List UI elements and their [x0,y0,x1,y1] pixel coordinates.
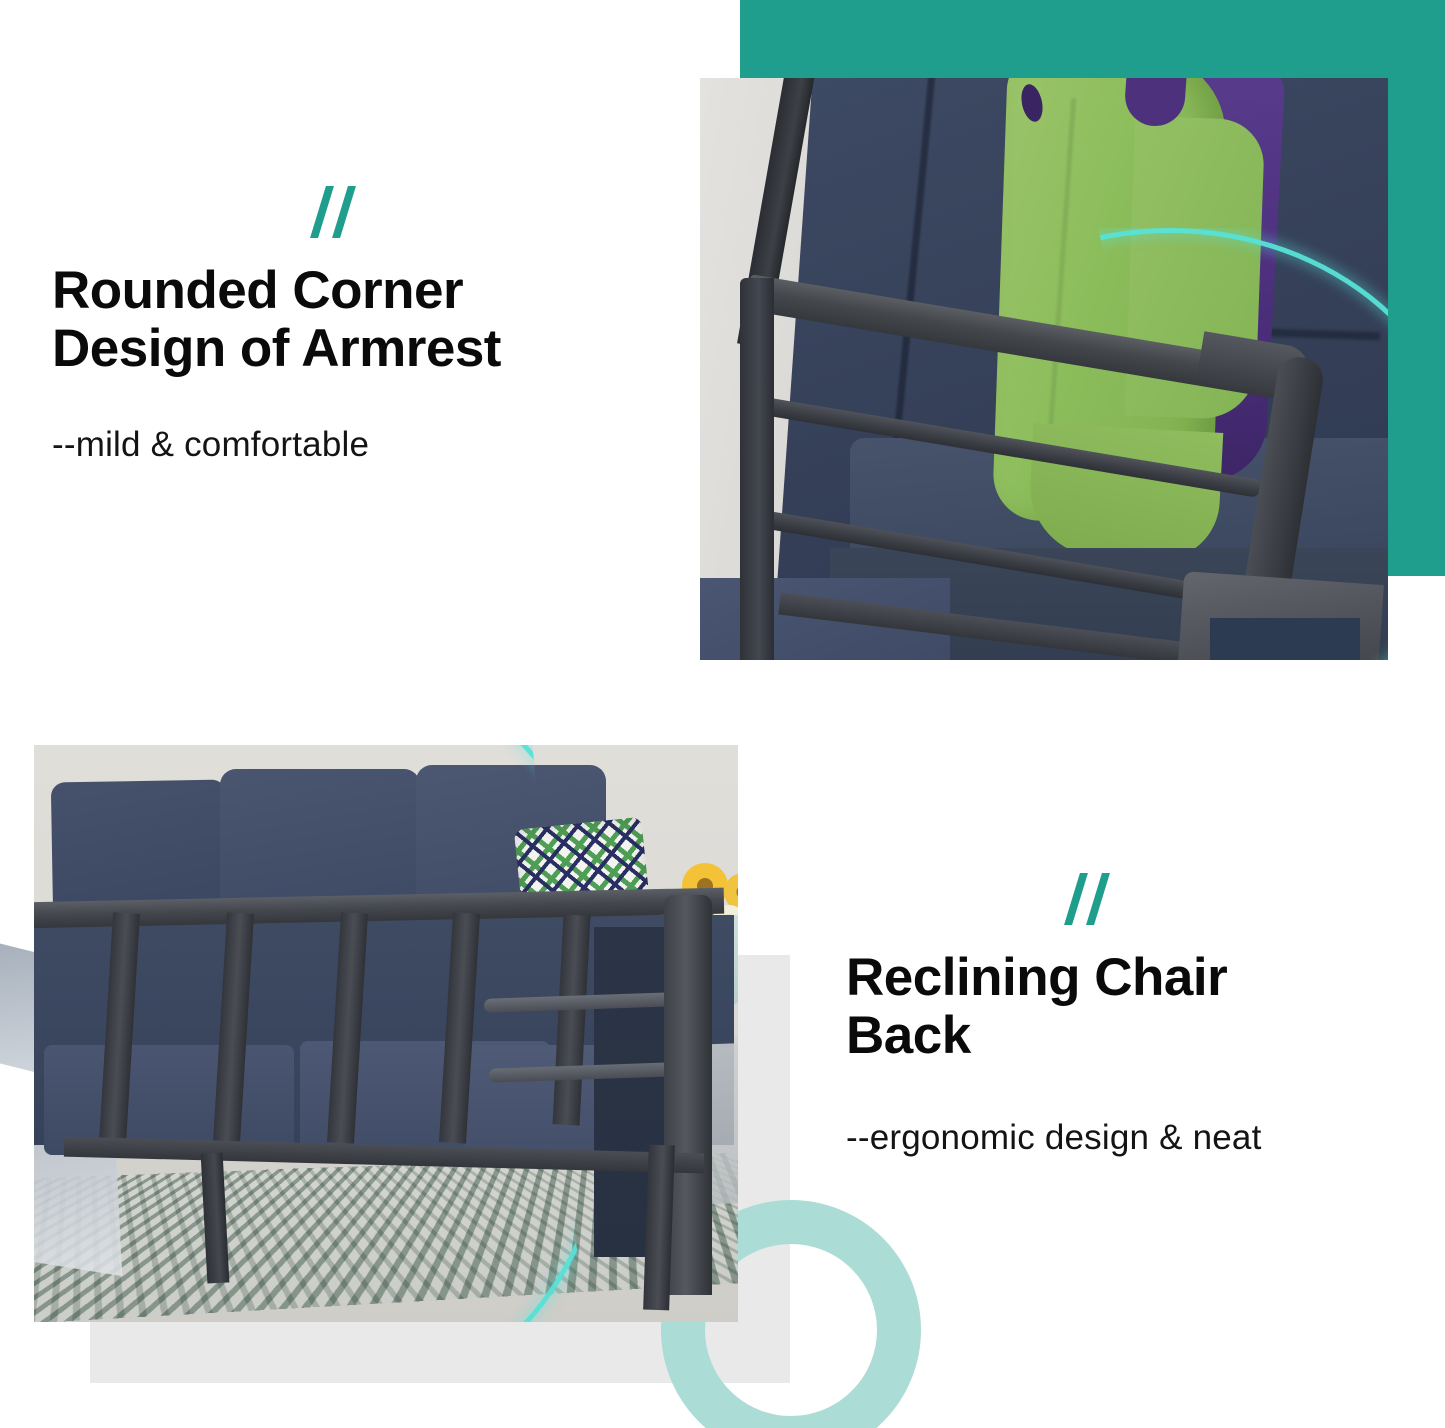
slash-mark-icon-chairback [1072,873,1112,929]
sofa-back-photo [34,745,738,1322]
armrest-photo [700,78,1388,660]
slash-mark-icon-armrest [318,186,358,242]
feature-chairback-text: Reclining Chair Back --ergonomic design … [846,949,1445,1158]
infographic-canvas: Rounded Corner Design of Armrest --mild … [0,0,1445,1428]
feature-armrest-subheading: --mild & comfortable [52,425,692,465]
feature-chairback-heading: Reclining Chair Back [846,949,1445,1066]
feature-chairback-subheading: --ergonomic design & neat [846,1118,1445,1158]
feature-armrest-heading: Rounded Corner Design of Armrest [52,262,692,379]
armrest-vertical-post [740,278,774,660]
feature-armrest-text: Rounded Corner Design of Armrest --mild … [52,262,692,465]
glass-table-edge-overflow [0,944,36,1073]
